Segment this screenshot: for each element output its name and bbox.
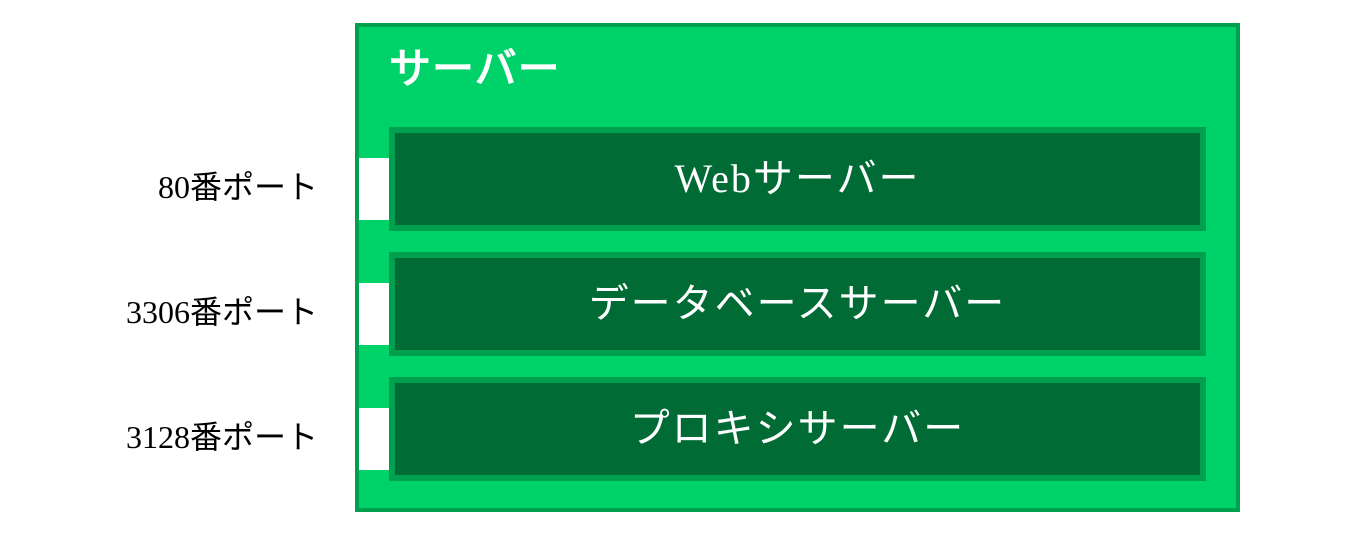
- server-container-title: サーバー: [389, 45, 561, 93]
- port-label-web: 80番ポート: [0, 171, 318, 203]
- port-notch-web: [359, 158, 393, 220]
- server-container: サーバー Webサーバー データベースサーバー プロキシサーバー: [355, 23, 1240, 512]
- service-label-web: Webサーバー: [675, 157, 921, 201]
- service-box-database: データベースサーバー: [389, 252, 1206, 356]
- diagram-canvas: 80番ポート 3306番ポート 3128番ポート サーバー Webサーバー デー…: [0, 0, 1354, 541]
- port-label-database: 3306番ポート: [0, 296, 318, 328]
- port-notch-proxy: [359, 408, 393, 470]
- service-box-proxy: プロキシサーバー: [389, 377, 1206, 481]
- service-box-web: Webサーバー: [389, 127, 1206, 231]
- port-notch-database: [359, 283, 393, 345]
- service-label-database: データベースサーバー: [589, 282, 1007, 326]
- port-label-proxy: 3128番ポート: [0, 421, 318, 453]
- service-label-proxy: プロキシサーバー: [630, 407, 966, 451]
